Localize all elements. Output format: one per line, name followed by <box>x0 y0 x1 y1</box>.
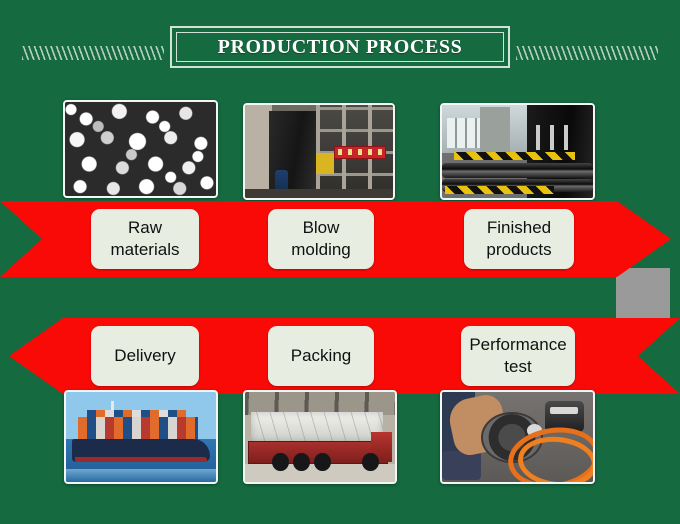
step-label-packing: Packing <box>268 326 374 386</box>
photo-performance-test <box>440 390 595 484</box>
finished-pipes-image <box>442 105 593 198</box>
step-label-line2: materials <box>97 239 193 261</box>
step-label-raw-materials: Raw materials <box>91 209 199 269</box>
container-ship-image <box>66 392 216 482</box>
title-frame: PRODUCTION PROCESS <box>170 26 510 68</box>
step-label-line1: Raw <box>97 217 193 239</box>
header: PRODUCTION PROCESS <box>0 0 680 92</box>
plastic-pellets-image <box>65 102 216 196</box>
step-label-line1: Finished <box>470 217 568 239</box>
photo-delivery <box>64 390 218 484</box>
photo-blow-molding <box>243 103 395 200</box>
loaded-truck-image <box>245 392 395 482</box>
zigzag-right-icon <box>516 46 658 60</box>
photo-raw-materials <box>63 100 218 198</box>
slide-canvas: PRODUCTION PROCESS <box>0 0 680 524</box>
step-label-line1: Blow <box>274 217 368 239</box>
title-frame-inner: PRODUCTION PROCESS <box>176 32 504 62</box>
photo-finished-products <box>440 103 595 200</box>
step-label-line2: products <box>470 239 568 261</box>
step-label-line2: molding <box>274 239 368 261</box>
step-label-performance-test: Performance test <box>461 326 575 386</box>
step-label-delivery: Delivery <box>91 326 199 386</box>
blow-molding-machine-image <box>245 105 393 198</box>
step-label-line1: Performance <box>467 334 569 356</box>
step-label-line1: Delivery <box>97 345 193 367</box>
step-label-line1: Packing <box>274 345 368 367</box>
page-title: PRODUCTION PROCESS <box>218 36 463 59</box>
step-label-line2: test <box>467 356 569 378</box>
step-label-blow-molding: Blow molding <box>268 209 374 269</box>
zigzag-left-icon <box>22 46 164 60</box>
photo-packing <box>243 390 397 484</box>
step-label-finished-products: Finished products <box>464 209 574 269</box>
pressure-test-image <box>442 392 593 482</box>
